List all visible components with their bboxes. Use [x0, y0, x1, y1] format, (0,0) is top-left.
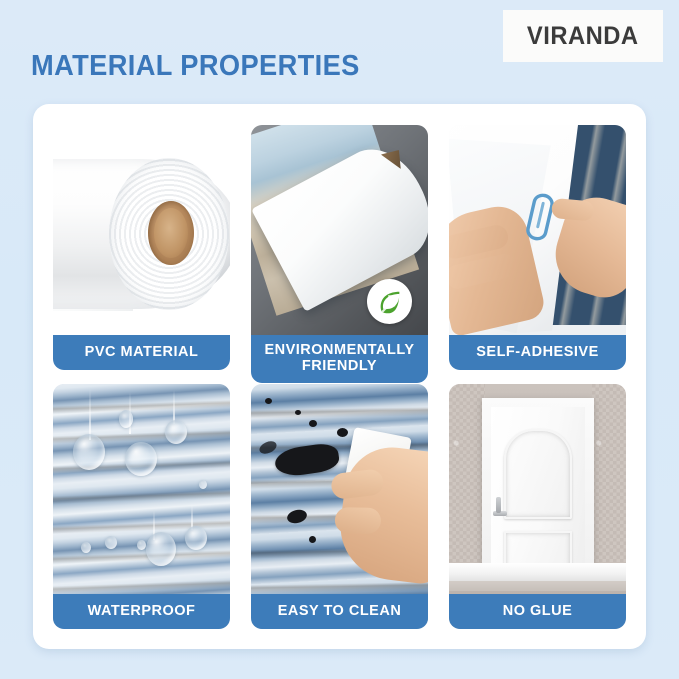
eco-peel-image: [251, 125, 428, 370]
wall-left: [449, 384, 485, 581]
page-title: MATERIAL PROPERTIES: [31, 50, 360, 83]
brand-logo: VIRANDA: [503, 10, 663, 62]
dirt-speck: [295, 410, 301, 415]
water-droplet: [137, 540, 146, 550]
water-streak: [173, 390, 175, 424]
feature-label-waterproof: WATERPROOF: [53, 594, 230, 629]
feature-cell-self-adhesive[interactable]: SELF-ADHESIVE: [449, 125, 626, 370]
water-droplet: [81, 542, 91, 553]
feature-cell-easy-to-clean[interactable]: EASY TO CLEAN: [251, 384, 428, 629]
door-panel-upper: [504, 429, 572, 519]
waterproof-image: [53, 384, 230, 629]
feature-label-easy-to-clean: EASY TO CLEAN: [251, 594, 428, 629]
water-droplet: [199, 480, 207, 489]
water-droplet: [119, 410, 133, 428]
dirt-smudge: [286, 508, 309, 525]
dirt-speck: [309, 420, 317, 427]
feature-label-self-adhesive: SELF-ADHESIVE: [449, 335, 626, 370]
feature-cell-environmentally-friendly[interactable]: ENVIRONMENTALLY FRIENDLY: [251, 125, 428, 370]
feature-label-environmentally-friendly: ENVIRONMENTALLY FRIENDLY: [251, 335, 428, 383]
pvc-roll-image: [53, 125, 230, 370]
page-header: MATERIAL PROPERTIES VIRANDA: [0, 0, 679, 105]
easy-to-clean-image: [251, 384, 428, 629]
door-frame: [482, 398, 594, 581]
water-droplet: [125, 442, 157, 476]
pvc-core-inner: [154, 208, 188, 258]
door-handle-icon: [493, 511, 507, 516]
features-card: PVC MATERIAL: [33, 104, 646, 649]
dirt-speck: [265, 398, 272, 404]
no-glue-image: [449, 384, 626, 629]
door-slab: [491, 407, 585, 581]
water-streak: [89, 388, 91, 440]
dirt-smudge: [258, 439, 279, 456]
water-droplet: [105, 536, 117, 549]
brand-name: VIRANDA: [527, 22, 639, 51]
water-droplet: [146, 532, 176, 566]
feature-cell-no-glue[interactable]: NO GLUE: [449, 384, 626, 629]
feature-label-pvc-material: PVC MATERIAL: [53, 335, 230, 370]
wall-right: [592, 384, 626, 581]
water-droplet: [73, 434, 105, 470]
feature-cell-pvc-material[interactable]: PVC MATERIAL: [53, 125, 230, 370]
dirt-speck: [309, 536, 316, 543]
feature-cell-waterproof[interactable]: WATERPROOF: [53, 384, 230, 629]
leaf-icon: [367, 279, 412, 324]
dirt-smudge: [273, 442, 340, 479]
feature-label-no-glue: NO GLUE: [449, 594, 626, 629]
features-grid: PVC MATERIAL: [53, 125, 626, 630]
water-droplet: [165, 420, 187, 444]
self-adhesive-image: [449, 125, 626, 370]
water-droplet: [185, 526, 207, 550]
dirt-speck: [337, 428, 348, 437]
baseboard-strip: [449, 563, 626, 581]
